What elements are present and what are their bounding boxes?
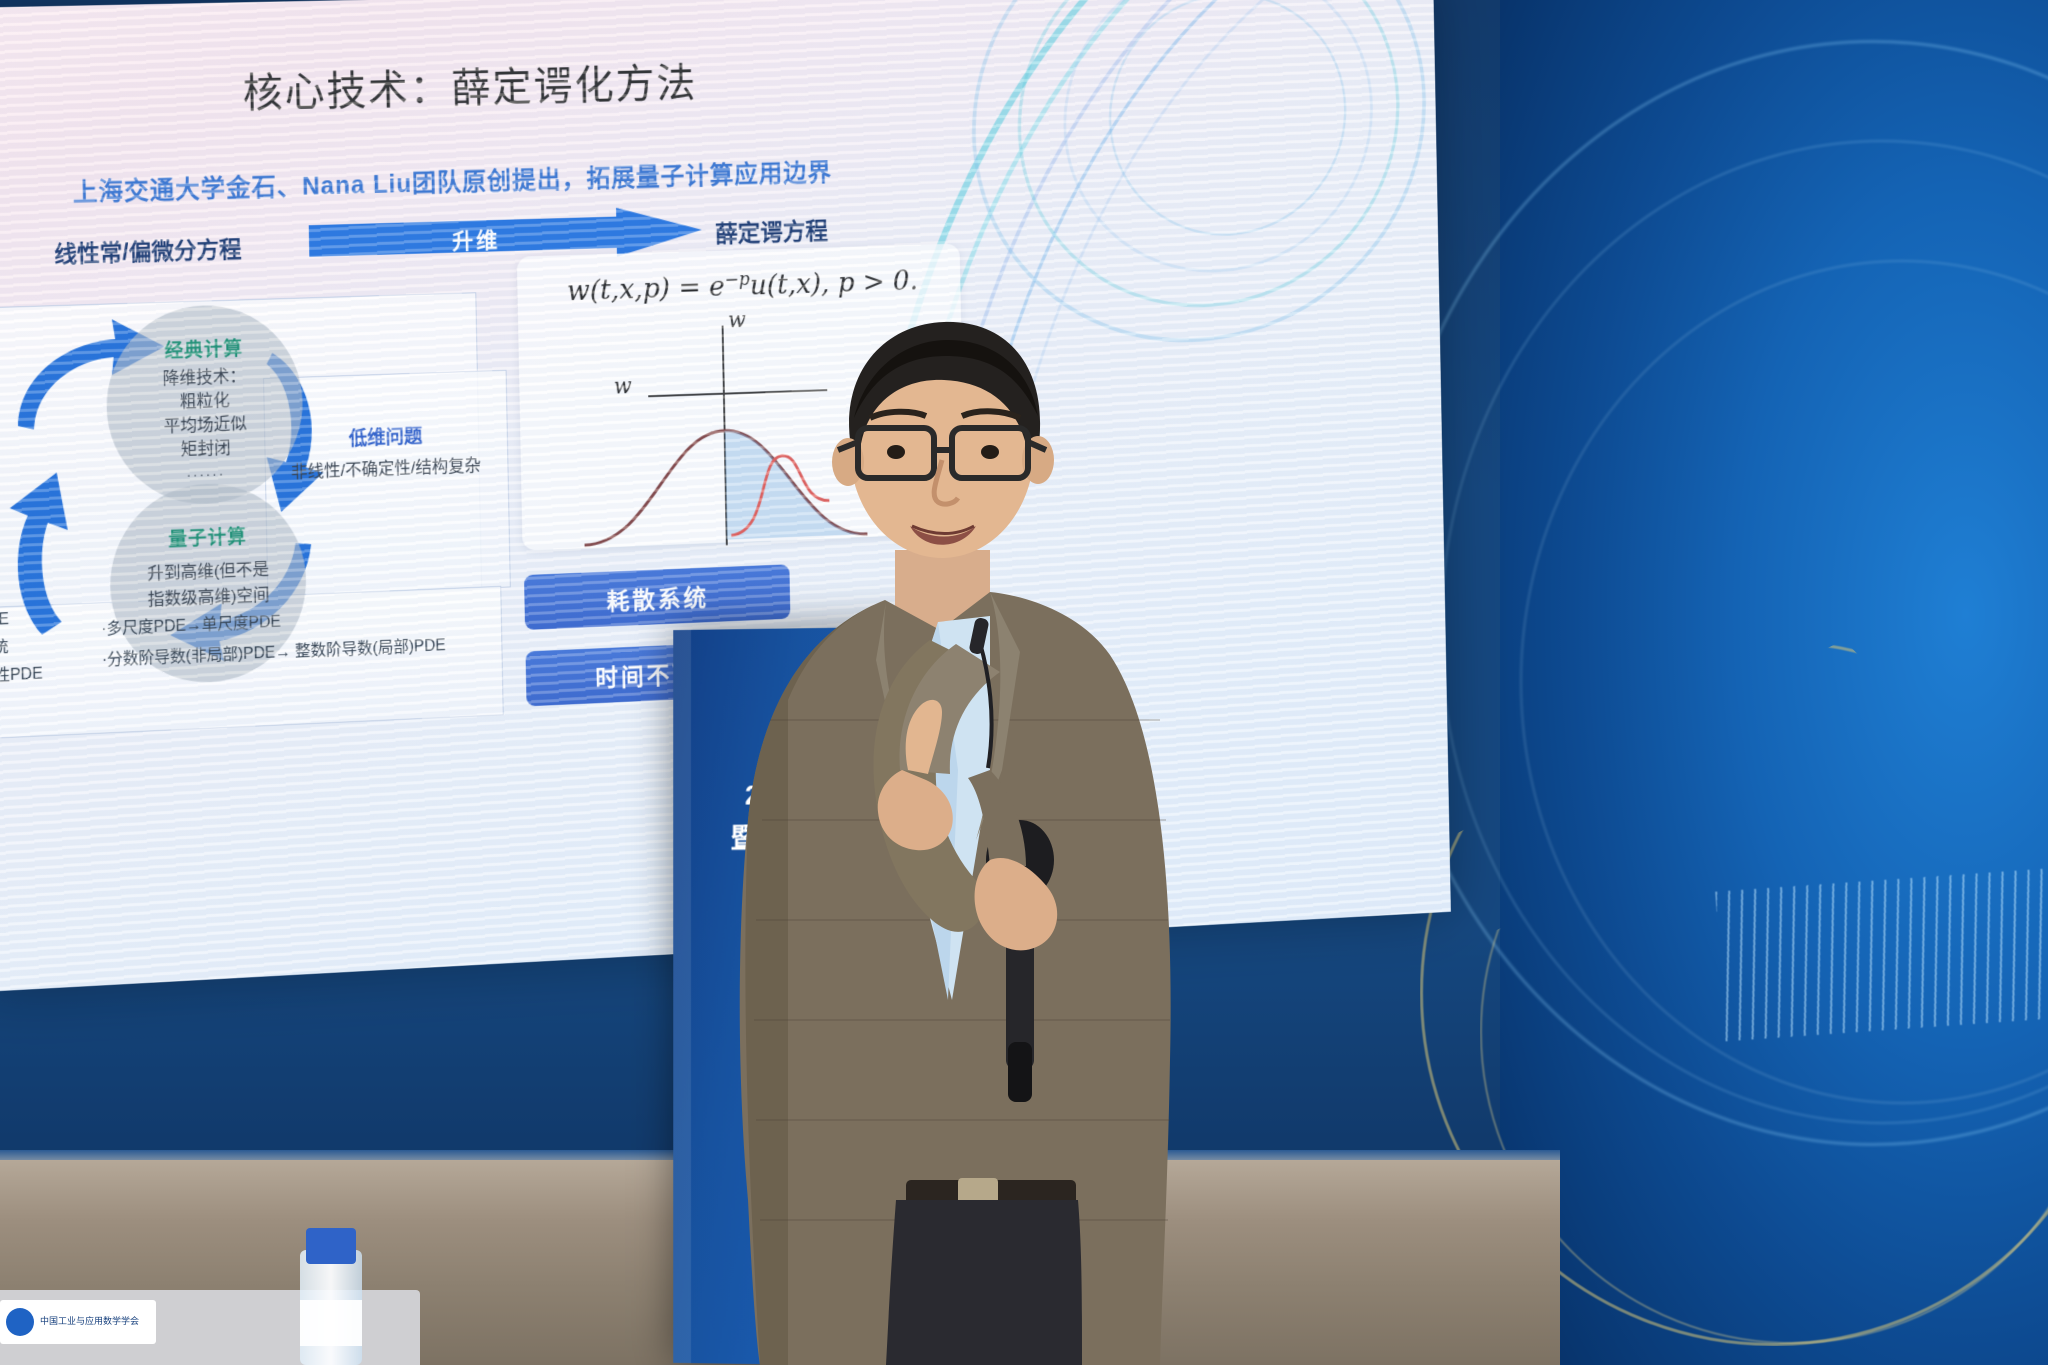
badge-text: 中国工业与应用数学学会 <box>40 1317 139 1327</box>
slide-title: 核心技术：薛定谔化方法 <box>242 50 697 119</box>
flow-right-label: 薛定谔方程 <box>715 212 828 249</box>
classic-circle-title: 经典计算 <box>105 332 301 365</box>
quantum-circle-line-0: 升到高维(但不是 <box>110 557 306 587</box>
formula-rhs: e <box>709 270 725 303</box>
formula-tail: u(t,x), p > 0. <box>750 265 919 302</box>
water-bottle-cap <box>306 1228 356 1264</box>
pde-list-left: 程→线性PDE 统→自治系统 PDE→确定性PDE <box>0 605 43 694</box>
formula-eq: = <box>678 271 701 304</box>
water-bottle-label <box>300 1300 362 1346</box>
formula-lhs: w(t,x,p) <box>567 272 671 307</box>
quantum-circle-title: 量子计算 <box>109 520 305 554</box>
slide-subtitle: 上海交通大学金石、Nana Liu团队原创提出，拓展量子计算应用边界 <box>72 153 832 209</box>
axis-label-w-horizontal: w <box>614 374 633 399</box>
decor-hatch-lines <box>1715 869 2048 1042</box>
speaker-person <box>690 300 1210 1365</box>
formula-exponent: −p <box>724 269 749 290</box>
badge-logo-icon <box>6 1308 34 1336</box>
flow-left-label: 线性常/偏微分方程 <box>54 230 242 269</box>
table-badge: 中国工业与应用数学学会 <box>0 1300 156 1344</box>
screenshot-root: 核心技术：薛定谔化方法 上海交通大学金石、Nana Liu团队原创提出，拓展量子… <box>0 0 2048 1365</box>
flow-arrow-label: 升维 <box>452 223 501 256</box>
